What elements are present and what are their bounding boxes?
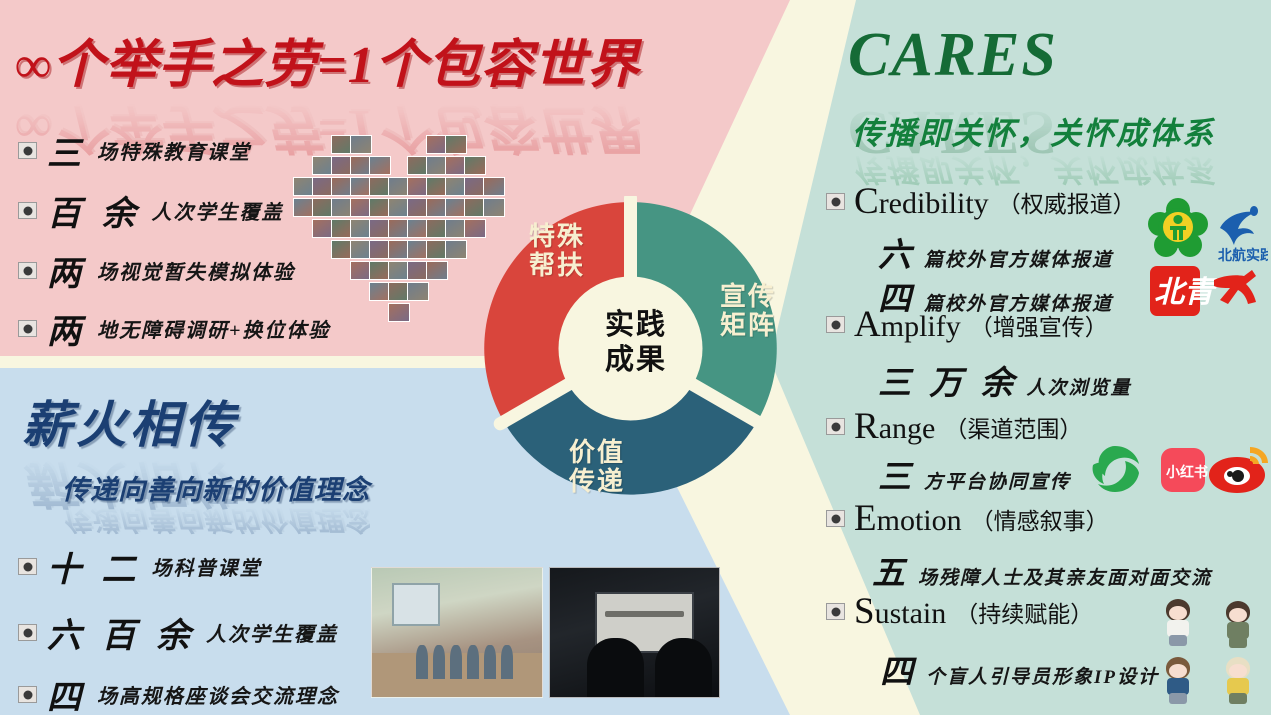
stat-number: 百 余 xyxy=(47,186,142,235)
cares-letter: Amplify xyxy=(854,303,961,346)
figure-shape xyxy=(467,645,479,679)
ip-character-3 xyxy=(1154,655,1202,705)
logo-red-person xyxy=(1214,270,1256,304)
stat-number: 两 xyxy=(47,246,87,295)
figure-shape xyxy=(484,645,496,679)
logo-green-flower xyxy=(1148,198,1208,257)
stat-label: 场高规格座谈会交流理念 xyxy=(97,680,339,709)
collage-photo-tile xyxy=(445,135,467,154)
cares-letter-zh: （情感叙事） xyxy=(971,502,1109,536)
cares-item-credibility: Credibility （权威报道） xyxy=(826,180,1136,223)
stat-number: 两 xyxy=(47,304,87,353)
stat-label: 方平台协同宣传 xyxy=(924,467,1071,494)
stat-label: 个盲人引导员形象IP设计 xyxy=(926,662,1159,689)
audience-silhouette xyxy=(587,638,645,697)
collage-photo-tile xyxy=(407,282,429,301)
donut-label-publicity: 宣传 矩阵 xyxy=(700,282,796,340)
stat-number: 三 xyxy=(47,126,87,175)
figure-shape xyxy=(501,645,513,679)
figure-shape xyxy=(450,645,462,679)
photo-kindergarten-class xyxy=(371,567,543,698)
bullet-icon xyxy=(826,510,845,527)
cares-letter: Credibility xyxy=(854,180,989,223)
range-logo-group: 小红书 xyxy=(1087,443,1271,497)
bullet-icon xyxy=(18,686,37,703)
collage-photo-tile xyxy=(445,240,467,259)
logo-beiqing-label: 北青 xyxy=(1154,276,1218,309)
heart-photo-collage xyxy=(293,135,483,335)
credibility-logo-group: 北航实践 北青 xyxy=(1148,198,1268,318)
stat-number: 六 xyxy=(878,228,916,276)
cares-letter-zh: （增强宣传） xyxy=(970,308,1108,342)
logo-xiaohongshu: 小红书 xyxy=(1161,448,1208,492)
stat-number: 三 xyxy=(878,450,916,498)
window-shape xyxy=(392,583,440,626)
photo-lecture-hall xyxy=(549,567,721,698)
page-title: ∞个举手之劳=1个包容世界 xyxy=(14,22,640,97)
cares-letter-zh: （权威报道） xyxy=(998,185,1136,219)
ip-character-2 xyxy=(1214,599,1262,649)
list-item: 十 二 场科普课堂 xyxy=(18,542,262,591)
logo-weibo xyxy=(1209,447,1268,493)
cares-letter: Emotion xyxy=(854,497,962,540)
cares-letter-zh: （渠道范围） xyxy=(944,410,1082,444)
ip-character-1 xyxy=(1154,597,1202,647)
stat-label: 人次学生覆盖 xyxy=(152,196,284,225)
stat-label: 篇校外官方媒体报道 xyxy=(924,245,1113,272)
cares-item-range: Range （渠道范围） xyxy=(826,405,1082,448)
ip-character-4 xyxy=(1214,655,1262,705)
stat-label: 场科普课堂 xyxy=(152,552,262,581)
bullet-icon xyxy=(18,262,37,279)
list-item: 三 场特殊教育课堂 xyxy=(18,126,251,175)
logo-beiqing-red: 北青 xyxy=(1150,266,1218,316)
collage-photo-tile xyxy=(388,303,410,322)
logo-beihang-label: 北航实践 xyxy=(1218,247,1268,263)
cares-sub-stat: 六 篇校外官方媒体报道 xyxy=(878,228,1113,276)
section-title-legacy: 薪火相传 xyxy=(22,385,238,457)
photo-strip xyxy=(371,567,720,698)
cares-subtitle: 传播即关怀，关怀成体系 xyxy=(852,108,1215,153)
stat-number: 十 二 xyxy=(47,542,142,591)
list-item: 百 余 人次学生覆盖 xyxy=(18,186,284,235)
list-item: 六 百 余 人次学生覆盖 xyxy=(18,608,338,657)
cares-sub-stat: 三 万 余 人次浏览量 xyxy=(878,356,1132,404)
bullet-icon xyxy=(18,558,37,575)
stat-label: 场残障人士及其亲友面对面交流 xyxy=(918,563,1212,590)
bullet-icon xyxy=(826,603,845,620)
bullet-icon xyxy=(18,320,37,337)
list-item: 两 场视觉暂失模拟体验 xyxy=(18,246,295,295)
donut-center-label: 实践 成果 xyxy=(578,308,694,378)
donut-label-special: 特殊 帮扶 xyxy=(505,222,609,280)
stat-label: 场视觉暂失模拟体验 xyxy=(97,256,295,285)
stat-number: 四 xyxy=(880,645,918,693)
cares-letter-zh: （持续赋能） xyxy=(955,595,1093,629)
stat-label: 人次学生覆盖 xyxy=(206,618,338,647)
cares-sub-stat: 三 方平台协同宣传 xyxy=(878,450,1071,498)
stat-label: 场特殊教育课堂 xyxy=(97,136,251,165)
donut-label-value: 价值 传递 xyxy=(545,438,649,496)
collage-photo-tile xyxy=(483,177,505,196)
cares-sub-stat: 五 场残障人士及其亲友面对面交流 xyxy=(872,546,1212,594)
figure-shape xyxy=(433,645,445,679)
stat-number: 六 百 余 xyxy=(47,608,196,657)
collage-photo-tile xyxy=(426,261,448,280)
logo-xiaohongshu-label: 小红书 xyxy=(1166,464,1208,480)
corner-notch xyxy=(806,0,836,26)
infographic-poster: ∞个举手之劳=1个包容世界 ∞个举手之劳=1个包容世界 三 场特殊教育课堂 百 … xyxy=(0,0,1271,715)
bullet-icon xyxy=(826,418,845,435)
bullet-icon xyxy=(826,316,845,333)
cares-letter: Sustain xyxy=(854,590,946,633)
bullet-icon xyxy=(826,193,845,210)
stat-number: 三 万 余 xyxy=(878,356,1019,404)
collage-photo-tile xyxy=(369,156,391,175)
cares-sub-stat: 四 个盲人引导员形象IP设计 xyxy=(880,645,1159,693)
list-item: 四 场高规格座谈会交流理念 xyxy=(18,670,339,715)
cares-letter: Range xyxy=(854,405,935,448)
audience-silhouette xyxy=(655,638,713,697)
bullet-icon xyxy=(18,202,37,219)
logo-wechat-channels xyxy=(1093,446,1139,492)
cares-item-emotion: Emotion （情感叙事） xyxy=(826,497,1109,540)
cares-title: CARES xyxy=(848,20,1058,91)
cares-item-sustain: Sustain （持续赋能） xyxy=(826,590,1093,633)
section-subtitle-legacy: 传递向善向新的价值理念 xyxy=(62,468,370,507)
stat-number: 五 xyxy=(872,546,910,594)
sustain-ip-group xyxy=(1152,597,1268,705)
stat-number: 四 xyxy=(47,670,87,715)
bullet-icon xyxy=(18,624,37,641)
cares-item-amplify: Amplify （增强宣传） xyxy=(826,303,1108,346)
figure-shape xyxy=(416,645,428,679)
stat-label: 人次浏览量 xyxy=(1027,373,1132,400)
collage-photo-tile xyxy=(464,156,486,175)
logo-beihang-shijian: 北航实践 xyxy=(1218,206,1268,263)
list-item: 两 地无障碍调研+换位体验 xyxy=(18,304,330,353)
bullet-icon xyxy=(18,142,37,159)
collage-photo-tile xyxy=(350,135,372,154)
